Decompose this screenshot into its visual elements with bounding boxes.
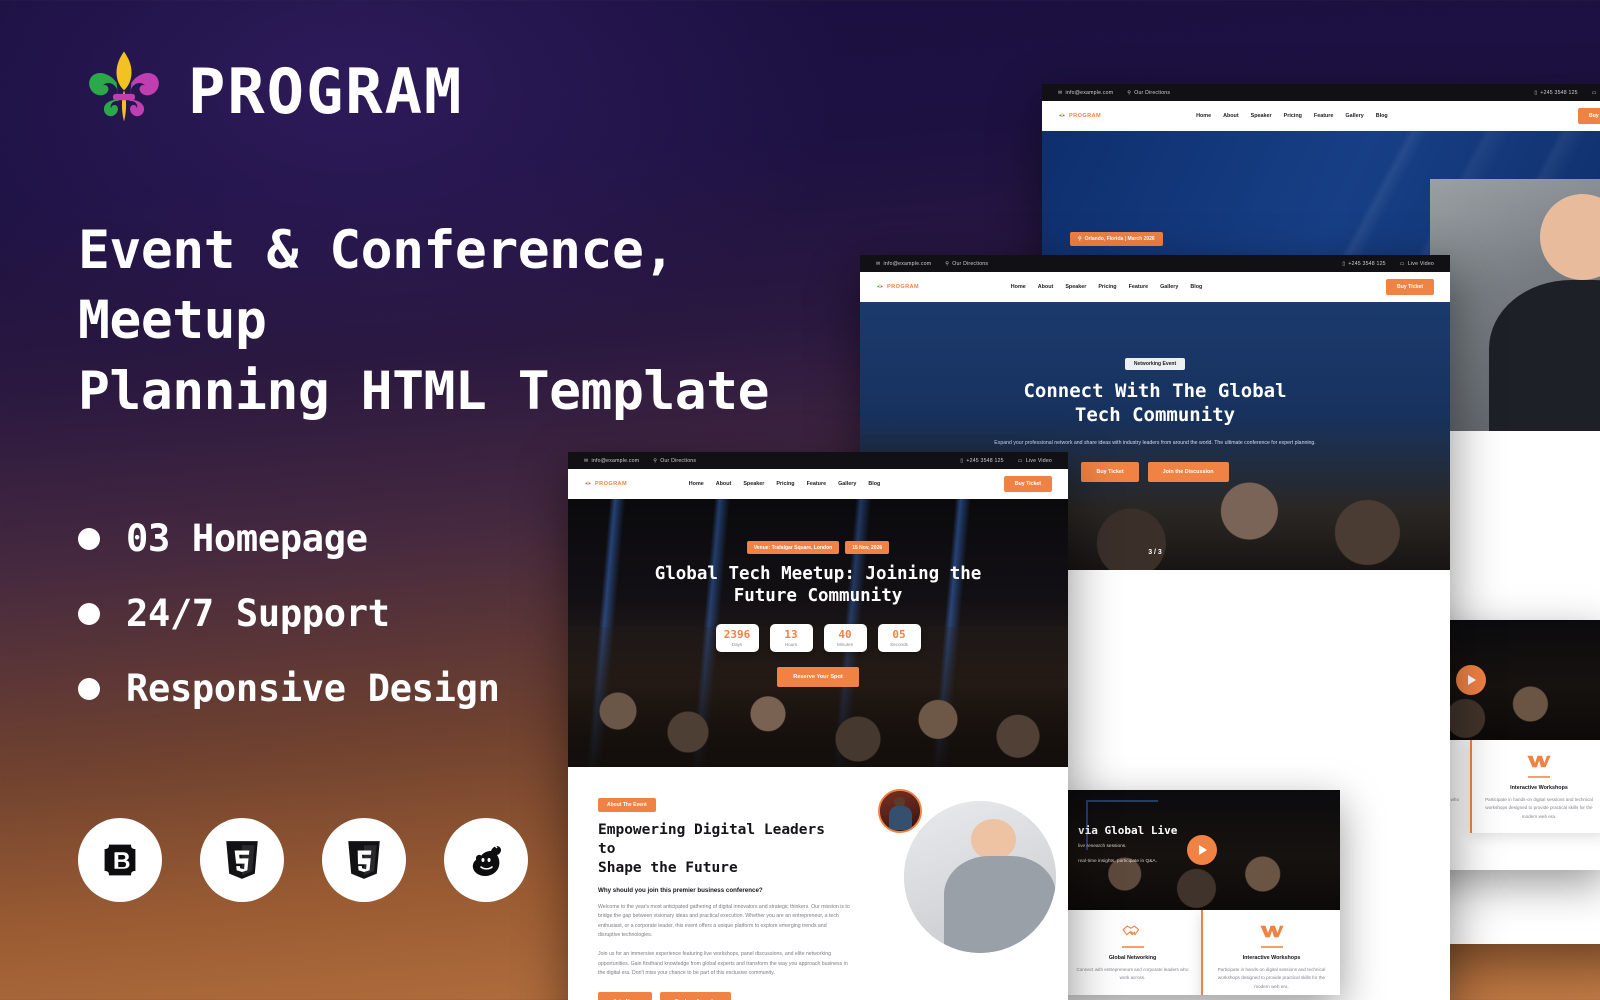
avatar bbox=[878, 789, 922, 833]
brand-name: PROGRAM bbox=[188, 61, 463, 123]
event-type-badge: Networking Event bbox=[1125, 358, 1185, 370]
hero-title-two: Connect With The Global Tech Community bbox=[860, 380, 1450, 428]
feature-card-workshops[interactable]: Interactive Workshops Participate in han… bbox=[1201, 910, 1340, 995]
about-title: Empowering Digital Leaders to Shape the … bbox=[598, 821, 850, 878]
about-subtitle: Why should you join this premier busines… bbox=[598, 887, 850, 894]
nav-links: Home About Speaker Pricing Feature Galle… bbox=[1011, 284, 1203, 290]
video-panel-primary: via Global Live live research sessions. … bbox=[1064, 790, 1340, 995]
video-title: via Global Live bbox=[1078, 824, 1177, 837]
nav-item-feature[interactable]: Feature bbox=[1314, 113, 1333, 119]
join-discussion-cta[interactable]: Join the Discussion bbox=[1148, 462, 1229, 482]
card-title: Interactive Workshops bbox=[1213, 955, 1330, 961]
phone-item[interactable]: ▯ +245 3548 125 bbox=[1342, 261, 1385, 267]
divider bbox=[1122, 946, 1144, 948]
email-item[interactable]: ✉ info@example.com bbox=[1058, 90, 1113, 96]
date-badge: 15 Nov, 2026 bbox=[845, 541, 889, 554]
card-description: Participate in hands-on digital sessions… bbox=[1213, 966, 1330, 991]
nav-item-blog[interactable]: Blog bbox=[1190, 284, 1202, 290]
feature-label: 24/7 Support bbox=[126, 592, 390, 635]
location-badge: ⚲ Orlando, Florida | March 2026 bbox=[1070, 232, 1163, 246]
nav-item-gallery[interactable]: Gallery bbox=[1160, 284, 1178, 290]
countdown-seconds: 05 Seconds bbox=[878, 624, 921, 652]
mailchimp-icon bbox=[464, 838, 508, 882]
feature-label: Responsive Design bbox=[126, 667, 500, 710]
nav-item-blog[interactable]: Blog bbox=[1376, 113, 1388, 119]
bullet-dot-icon bbox=[78, 678, 100, 700]
buy-ticket-button[interactable]: Buy Ticket bbox=[1386, 279, 1434, 295]
about-paragraph-one: Welcome to the year's most anticipated g… bbox=[598, 903, 850, 942]
buy-ticket-cta[interactable]: Buy Ticket bbox=[1081, 462, 1138, 482]
topbar: ✉ info@example.com ⚲ Our Directions ▯ +2… bbox=[860, 255, 1450, 272]
nav-item-pricing[interactable]: Pricing bbox=[1098, 284, 1116, 290]
nav-item-gallery[interactable]: Gallery bbox=[1345, 113, 1363, 119]
nav-item-speaker[interactable]: Speaker bbox=[1065, 284, 1086, 290]
card-title: Interactive Workshops bbox=[1482, 785, 1596, 791]
video-line-one: live research sessions. bbox=[1078, 843, 1177, 852]
list-item: 03 Homepage bbox=[78, 517, 838, 560]
webflow-icon bbox=[1213, 922, 1330, 940]
about-section: About The Event Empowering Digital Leade… bbox=[568, 767, 1068, 1000]
hero-subtitle-two: Expand your professional network and sha… bbox=[860, 439, 1450, 448]
html5-icon bbox=[343, 839, 385, 881]
css3-badge bbox=[200, 818, 284, 902]
nav-brand-name: PROGRAM bbox=[1069, 113, 1101, 119]
navbar: PROGRAM Home About Speaker Pricing Featu… bbox=[860, 272, 1450, 302]
fleur-de-lis-icon bbox=[78, 46, 170, 138]
explore-agenda-button[interactable]: Explore Agenda bbox=[660, 992, 731, 1000]
handshake-icon bbox=[1074, 922, 1191, 940]
divider bbox=[1261, 946, 1283, 948]
nav-item-home[interactable]: Home bbox=[1196, 113, 1211, 119]
phone-item[interactable]: ▯ +245 3548 125 bbox=[960, 458, 1003, 464]
video-line-two: real-time insights, participate in Q&A. bbox=[1078, 858, 1177, 867]
tech-badge-row bbox=[78, 818, 528, 902]
nav-brand[interactable]: PROGRAM bbox=[876, 283, 919, 291]
feature-card-networking[interactable]: Global Networking Connect with entrepren… bbox=[1064, 910, 1201, 995]
buy-ticket-button[interactable]: Buy Ticket bbox=[1578, 108, 1600, 124]
about-badge: About The Event bbox=[598, 798, 656, 812]
about-photo bbox=[904, 801, 1056, 953]
bullet-dot-icon bbox=[78, 603, 100, 625]
brand-lockup: PROGRAM bbox=[78, 44, 838, 140]
nav-links: Home About Speaker Pricing Feature Galle… bbox=[1196, 113, 1388, 119]
promo-panel: PROGRAM Event & Conference, Meetup Plann… bbox=[78, 44, 838, 710]
nav-item-home[interactable]: Home bbox=[1011, 284, 1026, 290]
directions-item[interactable]: ⚲ Our Directions bbox=[945, 261, 988, 267]
play-icon[interactable] bbox=[1456, 665, 1486, 695]
nav-item-pricing[interactable]: Pricing bbox=[1284, 113, 1302, 119]
mailchimp-badge bbox=[444, 818, 528, 902]
feature-label: 03 Homepage bbox=[126, 517, 368, 560]
card-description: Participate in hands-on digital sessions… bbox=[1482, 796, 1596, 821]
directions-item[interactable]: ⚲ Our Directions bbox=[1127, 90, 1170, 96]
bootstrap-icon bbox=[98, 838, 142, 882]
video-thumbnail[interactable]: via Global Live live research sessions. … bbox=[1064, 790, 1340, 910]
speaker-photo bbox=[1430, 179, 1600, 431]
nav-item-blog[interactable]: Blog bbox=[868, 481, 880, 487]
nav-item-feature[interactable]: Feature bbox=[1129, 284, 1148, 290]
about-paragraph-two: Join us for an immersive experience feat… bbox=[598, 950, 850, 979]
location-badge-label: Orlando, Florida | March 2026 bbox=[1085, 236, 1155, 242]
list-item: Responsive Design bbox=[78, 667, 838, 710]
divider bbox=[1528, 776, 1550, 778]
phone-item[interactable]: ▯ +245 3548 125 bbox=[1534, 90, 1577, 96]
card-description: Connect with entrepreneurs and corporate… bbox=[1074, 966, 1191, 983]
play-icon[interactable] bbox=[1187, 835, 1217, 865]
headline-line-1: Event & Conference, Meetup bbox=[78, 216, 838, 357]
navbar: PROGRAM Home About Speaker Pricing Featu… bbox=[1042, 101, 1600, 131]
topbar: ✉ info@example.com ⚲ Our Directions ▯ +2… bbox=[1042, 84, 1600, 101]
feature-card-workshops[interactable]: Interactive Workshops Participate in han… bbox=[1470, 740, 1600, 833]
topbar-email: info@example.com bbox=[1066, 90, 1114, 96]
html5-badge bbox=[322, 818, 406, 902]
feature-list: 03 Homepage 24/7 Support Responsive Desi… bbox=[78, 517, 838, 710]
webflow-icon bbox=[1482, 752, 1596, 770]
nav-item-gallery[interactable]: Gallery bbox=[838, 481, 856, 487]
nav-item-about[interactable]: About bbox=[1223, 113, 1239, 119]
headline-line-2: Planning HTML Template bbox=[78, 357, 838, 427]
nav-item-speaker[interactable]: Speaker bbox=[1251, 113, 1272, 119]
bullet-dot-icon bbox=[78, 528, 100, 550]
live-video-item[interactable]: ▭ Live Video bbox=[1018, 458, 1052, 464]
nav-brand[interactable]: PROGRAM bbox=[1058, 112, 1101, 120]
css3-icon bbox=[221, 839, 263, 881]
list-item: 24/7 Support bbox=[78, 592, 838, 635]
card-title: Global Networking bbox=[1074, 955, 1191, 961]
topbar-directions: Our Directions bbox=[1134, 90, 1170, 96]
topbar-phone: +245 3548 125 bbox=[1540, 90, 1577, 96]
join-now-button[interactable]: Join Now bbox=[598, 992, 652, 1000]
bootstrap-badge bbox=[78, 818, 162, 902]
page-title: Event & Conference, Meetup Planning HTML… bbox=[78, 216, 838, 427]
live-video-item[interactable]: ▭ Live Video bbox=[1400, 261, 1434, 267]
buy-ticket-button[interactable]: Buy Ticket bbox=[1004, 476, 1052, 492]
email-item[interactable]: ✉ info@example.com bbox=[876, 261, 931, 267]
live-video-item[interactable]: ▭ Live Video bbox=[1592, 90, 1600, 96]
nav-item-about[interactable]: About bbox=[1038, 284, 1054, 290]
